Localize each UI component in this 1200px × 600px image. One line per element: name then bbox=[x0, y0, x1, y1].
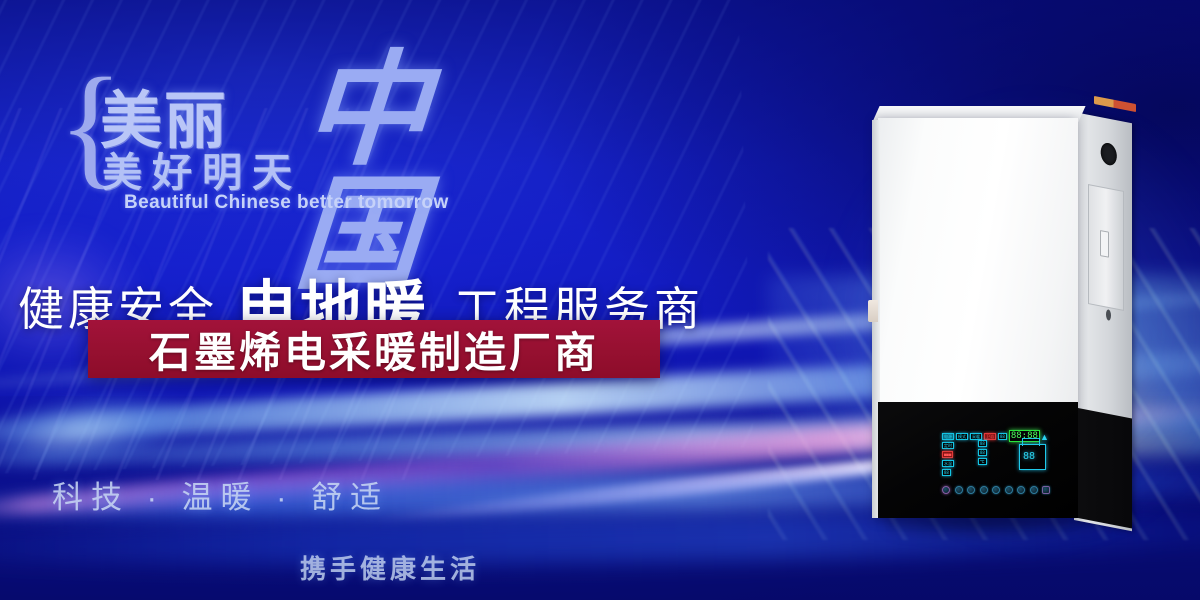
house-temperature-value: 88 bbox=[1023, 452, 1035, 462]
lcd-seg-f: 88 bbox=[978, 440, 987, 447]
clock-button[interactable] bbox=[1017, 486, 1025, 494]
product-side-screw bbox=[1106, 309, 1111, 321]
product-left-clip bbox=[868, 300, 878, 322]
up-button[interactable] bbox=[967, 486, 975, 494]
timer-button[interactable] bbox=[992, 486, 1000, 494]
red-banner: 石墨烯电采暖制造厂商 bbox=[88, 320, 660, 378]
down-button[interactable] bbox=[980, 486, 988, 494]
lcd-label-mode: 模式 bbox=[956, 433, 968, 440]
product-side-slot bbox=[1100, 230, 1109, 258]
product-touch-button-row[interactable] bbox=[942, 486, 1050, 494]
lcd-seg-a: 采暖 bbox=[970, 433, 982, 440]
mode-button[interactable] bbox=[955, 486, 963, 494]
lcd-seg-g: 88 bbox=[978, 449, 987, 456]
red-banner-text: 石墨烯电采暖制造厂商 bbox=[149, 319, 599, 380]
product-control-panel-side bbox=[1078, 408, 1132, 528]
temp-button[interactable] bbox=[1005, 486, 1013, 494]
lcd-seg-e: 88 bbox=[942, 469, 951, 476]
lock-button[interactable] bbox=[1042, 486, 1050, 494]
lcd-seg-d: 水温 bbox=[942, 460, 954, 467]
promotional-banner: { 美丽 美好明天 中国 Beautiful Chinese better to… bbox=[0, 0, 1200, 600]
lcd-seg-small: 88 bbox=[998, 433, 1007, 440]
house-icon: 88 bbox=[1019, 444, 1046, 470]
tagline-primary: 科技 · 温暖 · 舒适 bbox=[52, 472, 389, 517]
product-image-electric-boiler: 电源 模式 采暖 卫浴 88 88:88 ▲ 定时 ■■■ 水温 88 88 8… bbox=[862, 112, 1162, 524]
menu-button[interactable] bbox=[1030, 486, 1038, 494]
logo-english-tagline: Beautiful Chinese better tomorrow bbox=[124, 192, 449, 214]
logo-text-group: 美丽 美好明天 中国 Beautiful Chinese better tomo… bbox=[100, 52, 490, 202]
logo-line-2: 美好明天 bbox=[102, 140, 302, 198]
product-lcd-display: 电源 模式 采暖 卫浴 88 88:88 ▲ 定时 ■■■ 水温 88 88 8… bbox=[942, 430, 1048, 482]
brand-logo: { 美丽 美好明天 中国 Beautiful Chinese better to… bbox=[58, 52, 488, 222]
lcd-seg-h: ℃ bbox=[978, 458, 987, 465]
lcd-seg-heat-bar: ■■■ bbox=[942, 451, 953, 458]
lcd-seg-alert: 卫浴 bbox=[984, 433, 996, 440]
wifi-icon: ▲ bbox=[1040, 432, 1049, 442]
tagline-secondary: 携手健康生活 bbox=[300, 549, 480, 586]
lcd-label-power: 电源 bbox=[942, 433, 954, 440]
lcd-seg-c: 定时 bbox=[942, 442, 954, 449]
power-button[interactable] bbox=[942, 486, 950, 494]
